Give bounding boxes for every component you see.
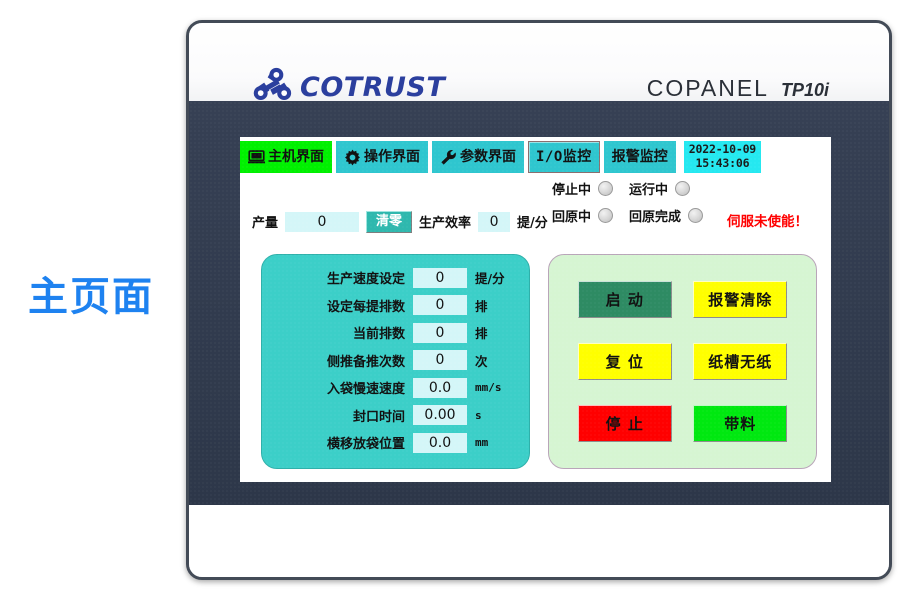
tab-label: 参数界面 <box>460 150 516 164</box>
param-label: 封口时间 <box>353 406 405 425</box>
parameter-panel: 生产速度设定 0 提/分 设定每提排数 0 排 当前排数 0 排 <box>261 254 530 469</box>
indicator-lamp-icon <box>675 181 690 196</box>
status-lamp-home-complete: 回原完成 <box>629 206 703 225</box>
status-lamp-stopped: 停止中 <box>552 179 613 198</box>
indicator-lamp-icon <box>598 208 613 223</box>
efficiency-value[interactable]: 0 <box>478 212 510 232</box>
reset-button[interactable]: 复 位 <box>578 343 672 380</box>
status-lamp-running: 运行中 <box>629 179 703 198</box>
tab-label: 操作界面 <box>364 150 420 164</box>
status-lamp-grid: 停止中 运行中 回原中 回原完成 <box>552 179 703 225</box>
param-row: 侧推备推次数 0 次 <box>268 347 515 375</box>
page-caption: 主页面 <box>28 264 154 322</box>
date-text: 2022-10-09 <box>689 143 756 157</box>
param-label: 设定每提排数 <box>327 296 405 315</box>
device-top-band: COTRUST COPANEL TP10i <box>189 23 889 101</box>
control-button-panel: 启 动 报警清除 复 位 纸槽无纸 停 止 带料 <box>548 254 817 469</box>
param-row: 当前排数 0 排 <box>268 319 515 347</box>
lcd-screen: 主机界面 操作界面 <box>240 137 831 482</box>
tab-host-screen[interactable]: 主机界面 <box>240 141 332 173</box>
efficiency-label: 生产效率 <box>419 212 471 231</box>
lamp-label: 停止中 <box>552 179 591 198</box>
alarm-clear-button[interactable]: 报警清除 <box>693 281 787 318</box>
lamp-label: 运行中 <box>629 179 668 198</box>
tab-parameter-screen[interactable]: 参数界面 <box>432 141 524 173</box>
indicator-lamp-icon <box>598 181 613 196</box>
tab-label: 主机界面 <box>268 150 324 164</box>
param-unit: 排 <box>475 323 515 342</box>
datetime-display: 2022-10-09 15:43:06 <box>684 141 761 173</box>
param-value-traverse-bag-position[interactable]: 0.0 <box>413 433 467 453</box>
param-row: 横移放袋位置 0.0 mm <box>268 429 515 457</box>
param-label: 入袋慢速速度 <box>327 378 405 397</box>
paper-empty-button[interactable]: 纸槽无纸 <box>693 343 787 380</box>
hmi-device: COTRUST COPANEL TP10i <box>186 20 892 580</box>
lamp-label: 回原中 <box>552 206 591 225</box>
indicator-lamp-icon <box>688 208 703 223</box>
tab-alarm-monitor[interactable]: 报警监控 <box>604 141 676 173</box>
param-unit: mm <box>475 436 515 449</box>
output-label: 产量 <box>252 212 278 231</box>
device-bottom-band <box>189 505 889 577</box>
param-unit: 提/分 <box>475 268 515 287</box>
screen-bezel: 主机界面 操作界面 <box>189 101 889 505</box>
alarm-message: 伺服未使能！ <box>727 210 808 230</box>
param-label: 横移放袋位置 <box>327 433 405 452</box>
param-row: 入袋慢速速度 0.0 mm/s <box>268 374 515 402</box>
counter-row: 产量 0 清零 生产效率 0 提/分 <box>252 211 548 233</box>
param-row: 设定每提排数 0 排 <box>268 292 515 320</box>
time-text: 15:43:06 <box>689 157 756 171</box>
tab-io-monitor[interactable]: I/O监控 <box>528 141 600 173</box>
param-unit: mm/s <box>475 381 515 394</box>
screenshot-root: 主页面 <box>0 0 900 600</box>
param-value-side-push-count[interactable]: 0 <box>413 350 467 370</box>
wrench-icon <box>440 149 457 166</box>
param-label: 侧推备推次数 <box>327 351 405 370</box>
brand-name: COTRUST <box>300 72 445 103</box>
model-code: TP10i <box>781 80 829 101</box>
navigation-tabbar: 主机界面 操作界面 <box>240 141 761 173</box>
param-value-bagging-slow-speed[interactable]: 0.0 <box>413 378 467 398</box>
param-row: 封口时间 0.00 s <box>268 402 515 430</box>
param-value-sealing-time[interactable]: 0.00 <box>413 405 467 425</box>
param-unit: s <box>475 409 515 422</box>
param-label: 当前排数 <box>353 323 405 342</box>
feed-material-button[interactable]: 带料 <box>693 405 787 442</box>
tab-label: 报警监控 <box>612 150 668 164</box>
clear-counter-button[interactable]: 清零 <box>366 211 412 233</box>
param-value-rows-per-lift[interactable]: 0 <box>413 295 467 315</box>
param-row: 生产速度设定 0 提/分 <box>268 264 515 292</box>
stop-button[interactable]: 停 止 <box>578 405 672 442</box>
output-value[interactable]: 0 <box>285 212 359 232</box>
product-name: COPANEL <box>647 75 769 102</box>
tab-operation-screen[interactable]: 操作界面 <box>336 141 428 173</box>
efficiency-unit: 提/分 <box>517 212 548 231</box>
start-button[interactable]: 启 动 <box>578 281 672 318</box>
tab-label: I/O监控 <box>536 150 592 164</box>
param-value-production-speed[interactable]: 0 <box>413 268 467 288</box>
device-model: COPANEL TP10i <box>647 75 829 102</box>
param-value-current-rows[interactable]: 0 <box>413 323 467 343</box>
status-strip: 产量 0 清零 生产效率 0 提/分 停止中 运行中 <box>240 179 831 239</box>
param-label: 生产速度设定 <box>327 268 405 287</box>
param-unit: 排 <box>475 296 515 315</box>
param-unit: 次 <box>475 351 515 370</box>
monitor-icon <box>248 150 265 164</box>
gear-icon <box>344 149 361 166</box>
lamp-label: 回原完成 <box>629 206 681 225</box>
status-lamp-homing: 回原中 <box>552 206 613 225</box>
